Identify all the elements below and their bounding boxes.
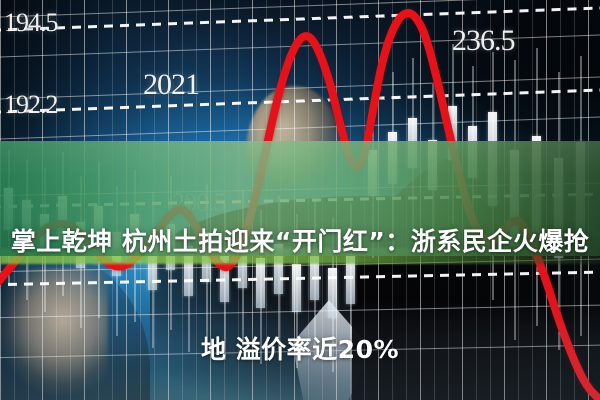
headline-text: 掌上乾坤 杭州土拍迎来“开门红”：浙系民企火爆抢 地 溢价率近20% — [0, 152, 600, 400]
news-thumbnail-image: 194.5192.22021236.5200.5 掌上乾坤 杭州土拍迎来“开门红… — [0, 0, 600, 400]
headline-line-2: 地 溢价率近20% — [0, 332, 600, 368]
headline-line-1: 掌上乾坤 杭州土拍迎来“开门红”：浙系民企火爆抢 — [0, 224, 600, 260]
